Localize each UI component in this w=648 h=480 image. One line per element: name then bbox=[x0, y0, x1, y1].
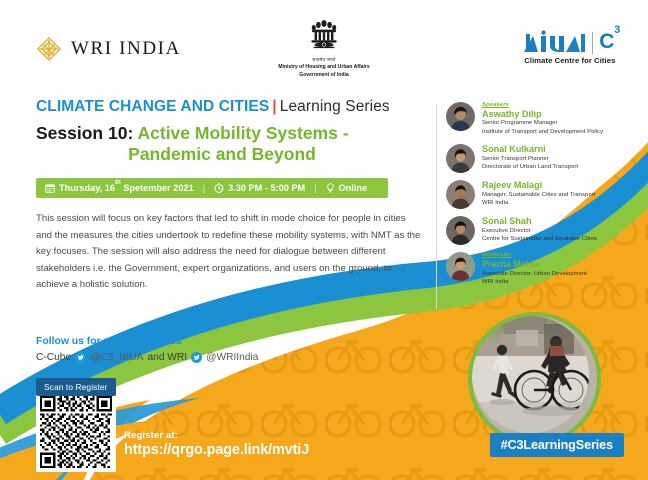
qr-code-container[interactable] bbox=[36, 392, 116, 472]
speaker-title: Senior Programme Manager bbox=[482, 119, 603, 128]
speaker-title: Executive Director bbox=[482, 227, 597, 236]
avatar-photo-1 bbox=[446, 102, 475, 131]
avatar bbox=[446, 144, 475, 173]
ashoka-emblem-icon bbox=[307, 16, 341, 56]
meta-separator-1: | bbox=[203, 183, 205, 193]
moderator-title: Associate Director, Urban Development bbox=[482, 270, 587, 279]
avatar-photo-5 bbox=[446, 252, 475, 281]
moderator-item: Moderator Prerna Mehta Associate Directo… bbox=[446, 252, 646, 287]
session-number: Session 10 bbox=[36, 123, 127, 143]
event-time: 3.30 PM - 5:00 PM bbox=[214, 183, 305, 193]
calendar-icon bbox=[45, 183, 55, 193]
avatar-photo-3 bbox=[446, 180, 475, 209]
avatar bbox=[446, 102, 475, 131]
emblem-caption: सत्यमेव जयते bbox=[229, 57, 419, 63]
avatar bbox=[446, 180, 475, 209]
niua-c3-logo: C3 Climate Centre for Cities bbox=[524, 30, 620, 65]
avatar-photo-2 bbox=[446, 144, 475, 173]
speaker-info: Sonal Kulkarni Senior Transport Planner … bbox=[482, 144, 578, 173]
ccube-label: C-Cube bbox=[36, 352, 71, 363]
meta-separator-2: | bbox=[314, 183, 316, 193]
niua-tagline: Climate Centre for Cities bbox=[524, 56, 620, 65]
session-colon: : bbox=[127, 123, 133, 143]
poster-header: WRI INDIA bbox=[0, 0, 648, 88]
speaker-item: Sonal Shah Executive Director Centre for… bbox=[446, 216, 646, 245]
event-mode-text: Online bbox=[339, 183, 368, 193]
niua-wordmark-icon bbox=[524, 30, 586, 54]
twitter-icon[interactable] bbox=[191, 352, 202, 363]
speaker-title: Senior Transport Planner bbox=[482, 155, 578, 164]
avatar bbox=[446, 216, 475, 245]
speakers-panel: Speakers Aswathy Dilip Senior Programme … bbox=[446, 102, 646, 294]
register-label: Register at: bbox=[124, 430, 309, 441]
qr-code-icon[interactable] bbox=[40, 396, 112, 468]
clock-icon bbox=[214, 183, 224, 193]
speaker-title: Manager, Sustainable Cities and Transpor… bbox=[482, 191, 595, 200]
poster-canvas: WRI INDIA bbox=[0, 0, 648, 480]
moderator-name: Prerna Mehta bbox=[482, 259, 587, 269]
event-mode: Online bbox=[326, 183, 368, 193]
avatar bbox=[446, 252, 475, 281]
wri-india-wordmark: WRI INDIA bbox=[71, 38, 181, 60]
speaker-item: Speakers Aswathy Dilip Senior Programme … bbox=[446, 102, 646, 137]
wri-diamond-icon bbox=[36, 36, 62, 62]
speaker-info: Rajeev Malagi Manager, Sustainable Citie… bbox=[482, 180, 595, 209]
follow-block: Follow us for regular updates C-Cube @C3… bbox=[36, 336, 258, 363]
wri-india-logo: WRI INDIA bbox=[36, 36, 181, 62]
online-icon bbox=[326, 183, 335, 193]
series-kicker: CLIMATE CHANGE AND CITIES|Learning Serie… bbox=[36, 98, 436, 117]
event-date: Thursday, 16th Spetember 2021 bbox=[45, 183, 194, 193]
session-title-line1: Active Mobility Systems - bbox=[138, 123, 349, 143]
handle-wri-india[interactable]: @WRIIndia bbox=[206, 352, 258, 363]
ministry-logo: सत्यमेव जयते Ministry of Housing and Urb… bbox=[229, 16, 419, 79]
kicker-divider: | bbox=[272, 98, 276, 115]
speaker-name: Aswathy Dilip bbox=[482, 109, 603, 119]
speaker-name: Rajeev Malagi bbox=[482, 180, 595, 190]
event-time-text: 3.30 PM - 5:00 PM bbox=[228, 183, 305, 193]
speaker-org: Directorate of Urban Land Transport bbox=[482, 163, 578, 172]
c3-mark: C3 bbox=[599, 31, 620, 52]
kicker-secondary: Learning Series bbox=[280, 98, 390, 115]
speaker-info: Sonal Shah Executive Director Centre for… bbox=[482, 216, 597, 245]
register-url[interactable]: https://qrgo.page.link/mvtiJ bbox=[124, 442, 309, 458]
follow-and-label: and WRI bbox=[147, 352, 187, 363]
moderator-org: WRI India bbox=[482, 278, 587, 287]
column-divider bbox=[436, 104, 437, 309]
speaker-item: Rajeev Malagi Manager, Sustainable Citie… bbox=[446, 180, 646, 209]
ministry-line-1: Ministry of Housing and Urban Affairs bbox=[229, 64, 419, 71]
speaker-info: Speakers Aswathy Dilip Senior Programme … bbox=[482, 102, 603, 137]
ministry-line-2: Government of India bbox=[229, 72, 419, 79]
page-title: Session 10: Active Mobility Systems - Pa… bbox=[36, 123, 436, 167]
hashtag-badge: #C3LearningSeries bbox=[490, 433, 624, 457]
kicker-primary: CLIMATE CHANGE AND CITIES bbox=[36, 98, 269, 115]
session-title-line2: Pandemic and Beyond bbox=[36, 144, 436, 166]
speaker-name: Sonal Shah bbox=[482, 216, 597, 226]
moderator-section-label: Moderator bbox=[482, 252, 587, 258]
speaker-item: Sonal Kulkarni Senior Transport Planner … bbox=[446, 144, 646, 173]
event-meta-bar: Thursday, 16th Spetember 2021 | 3.30 PM … bbox=[36, 178, 388, 198]
moderator-info: Moderator Prerna Mehta Associate Directo… bbox=[482, 252, 587, 287]
event-date-text: Thursday, 16th Spetember 2021 bbox=[59, 183, 194, 193]
speaker-name: Sonal Kulkarni bbox=[482, 144, 578, 154]
speakers-section-label: Speakers bbox=[482, 102, 603, 108]
main-content: CLIMATE CHANGE AND CITIES|Learning Serie… bbox=[36, 98, 436, 294]
cyclist-pedestrian-photo bbox=[472, 316, 589, 433]
avatar-photo-4 bbox=[446, 216, 475, 245]
session-description: This session will focus on key factors t… bbox=[36, 211, 421, 294]
register-block: Register at: https://qrgo.page.link/mvti… bbox=[124, 430, 309, 458]
scan-to-register-button[interactable]: Scan to Register bbox=[36, 378, 116, 396]
handle-c3-niua[interactable]: @C3_NIUA bbox=[90, 352, 143, 363]
speaker-org: Centre for Sustainable and Equitable Cit… bbox=[482, 235, 597, 244]
logo-divider bbox=[592, 32, 593, 54]
event-photo bbox=[468, 312, 601, 445]
speaker-org: WRI India bbox=[482, 199, 595, 208]
twitter-icon[interactable] bbox=[75, 352, 86, 363]
follow-heading: Follow us for regular updates bbox=[36, 336, 258, 347]
speaker-org: Institute of Transport and Development P… bbox=[482, 128, 603, 137]
social-handles: C-Cube @C3_NIUA and WRI @WRIIndia bbox=[36, 352, 258, 363]
